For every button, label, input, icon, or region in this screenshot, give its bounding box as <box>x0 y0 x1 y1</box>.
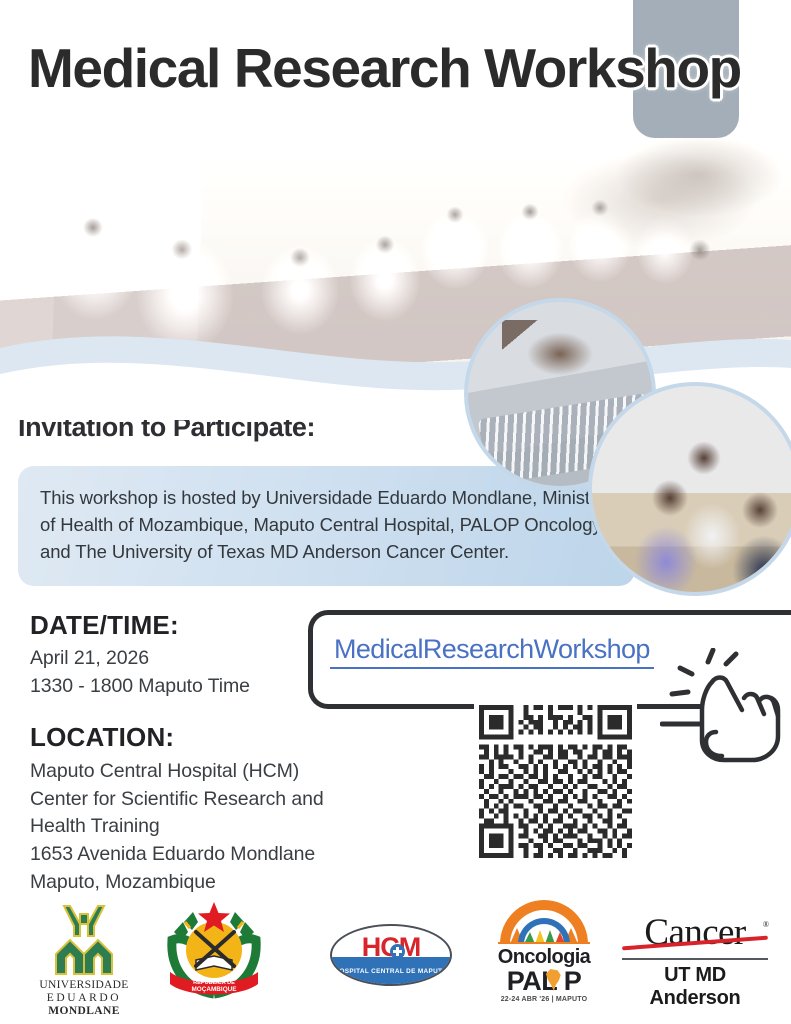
uem-line-1: UNIVERSIDADE <box>30 979 138 992</box>
invitation-body: This workshop is hosted by Universidade … <box>40 484 613 566</box>
qr-code-icon <box>474 700 637 863</box>
mda-subtitle: UT MD Anderson <box>620 964 770 1010</box>
logo-row: UNIVERSIDADE EDUARDO MONDLANE <box>0 896 791 1024</box>
location-line-2: Center for Scientific Research and <box>30 786 324 814</box>
mozambique-banner-text: REPÚBLICA DE <box>193 979 235 986</box>
hcm-cross-icon <box>390 944 405 959</box>
photo-team-collaboration <box>588 382 791 596</box>
palop-line-2: PAL P <box>492 966 596 997</box>
uem-wordmark: UNIVERSIDADE EDUARDO MONDLANE <box>30 979 138 1018</box>
hcm-oval: HCM HOSPITAL CENTRAL DE MAPUTO <box>330 924 452 986</box>
palop-fan-icon <box>496 898 592 944</box>
location-line-3: Health Training <box>30 813 324 841</box>
hcm-subtitle: HOSPITAL CENTRAL DE MAPUTO <box>332 968 450 975</box>
datetime-date: April 21, 2026 <box>30 645 250 673</box>
uem-emblem-icon <box>30 902 138 982</box>
hero-section: Medical Research Workshop <box>0 0 791 420</box>
mozambique-coat-of-arms-icon: REPÚBLICA DE MOÇAMBIQUE <box>160 898 268 1010</box>
click-hand-icon <box>660 648 788 770</box>
flyer-page: Medical Research Workshop Invitation to … <box>0 0 791 1024</box>
datetime-label: DATE/TIME: <box>30 610 250 641</box>
logo-palop-oncology: Oncologia PAL P 22-24 ABR '26 | MAPUTO <box>492 898 596 1010</box>
palop-line-3: 22-24 ABR '26 | MAPUTO <box>492 996 596 1003</box>
page-title: Medical Research Workshop <box>28 36 741 100</box>
location-line-5: Maputo, Mozambique <box>30 869 324 897</box>
uem-line-3: MONDLANE <box>30 1005 138 1018</box>
datetime-block: DATE/TIME: April 21, 2026 1330 - 1800 Ma… <box>30 610 250 700</box>
logo-uem: UNIVERSIDADE EDUARDO MONDLANE <box>30 902 138 1018</box>
uem-line-2: EDUARDO <box>30 992 138 1005</box>
invitation-heading: Invitation to Participate: <box>18 412 315 443</box>
registration-link[interactable]: MedicalResearchWorkshop <box>330 634 654 669</box>
datetime-time: 1330 - 1800 Maputo Time <box>30 673 250 701</box>
location-label: LOCATION: <box>30 722 324 753</box>
location-block: LOCATION: Maputo Central Hospital (HCM) … <box>30 722 324 896</box>
location-line-1: Maputo Central Hospital (HCM) <box>30 758 324 786</box>
logo-mozambique-emblem: REPÚBLICA DE MOÇAMBIQUE <box>160 898 268 1010</box>
location-line-4: 1653 Avenida Eduardo Mondlane <box>30 841 324 869</box>
logo-md-anderson: Cancer ® UT MD Anderson <box>620 914 770 994</box>
qr-code[interactable] <box>474 700 637 863</box>
logo-hcm: HCM HOSPITAL CENTRAL DE MAPUTO <box>330 924 452 986</box>
mda-divider-rule <box>622 958 768 960</box>
mda-registered-mark: ® <box>763 920 769 929</box>
svg-text:MOÇAMBIQUE: MOÇAMBIQUE <box>191 986 237 993</box>
